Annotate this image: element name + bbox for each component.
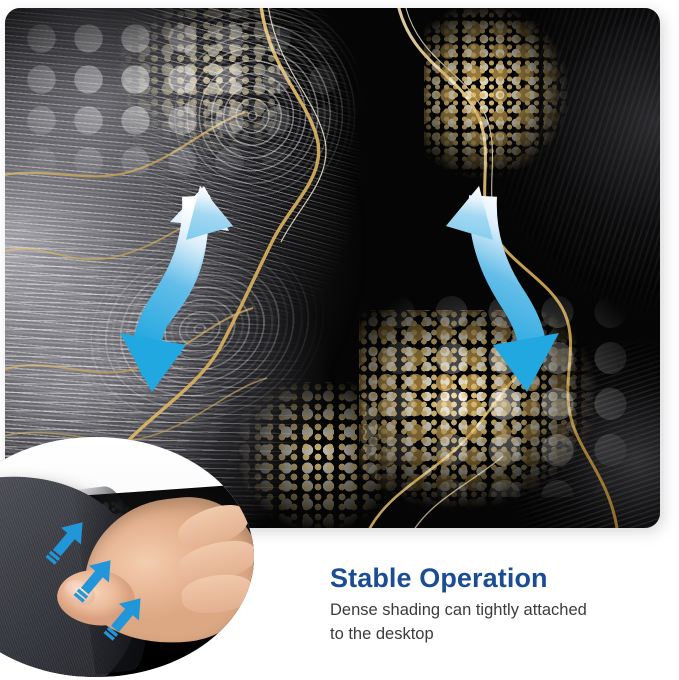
inset-arrow-2 [68,552,120,607]
inset-grip-arrows [0,437,254,677]
inset-photo [0,437,254,677]
white-speckle-top [18,18,359,195]
inset-detail-circle [0,437,254,677]
inset-detail-wrapper [0,437,254,677]
caption-body-line-2: to the desktop [330,623,648,646]
caption-block: Stable Operation Dense shading can tight… [330,563,660,646]
white-speckle-bottom [372,289,634,497]
product-feature-card: Stable Operation Dense shading can tight… [0,0,679,680]
inset-arrow-3 [98,590,150,645]
inset-arrow-1 [40,514,92,569]
caption-headline: Stable Operation [330,563,660,593]
gold-glitter-top-right [424,8,621,195]
caption-body-line-1: Dense shading can tightly attached [330,599,648,622]
